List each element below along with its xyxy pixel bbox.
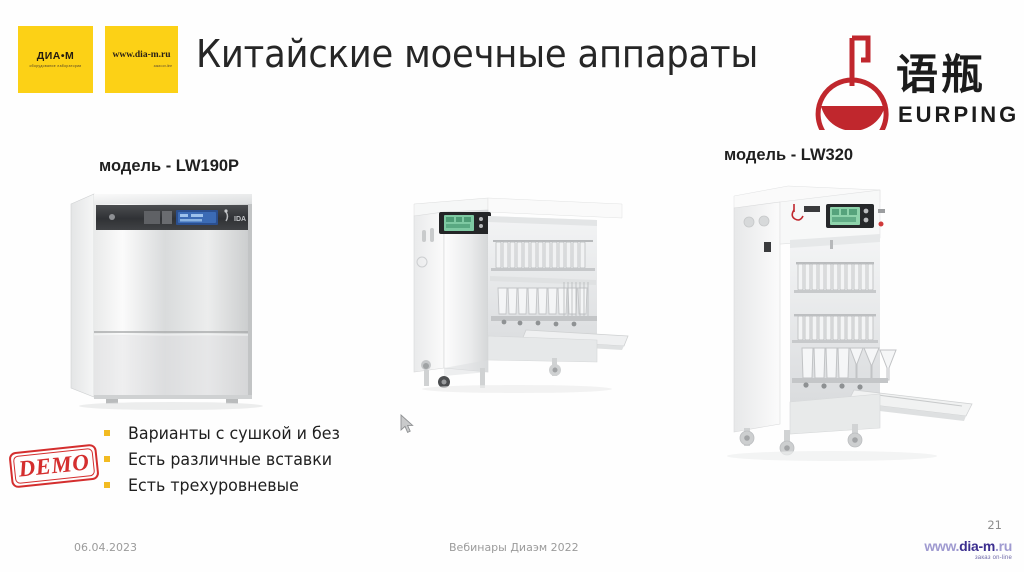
dia-m-url-logo-subtitle: заказ on-line	[154, 64, 172, 68]
model-caption-lw190p: модель - LW190P	[99, 157, 239, 176]
svg-text:IDA: IDA	[234, 216, 246, 223]
bullet-square-icon	[104, 482, 110, 488]
eurping-brand-logo: 语瓶 EURPING	[812, 28, 1008, 130]
list-item-label: Есть различные вставки	[128, 450, 332, 469]
footer-subtitle: Вебинары Диаэм 2022	[449, 541, 579, 554]
bullet-square-icon	[104, 456, 110, 462]
list-item-label: Варианты с сушкой и без	[128, 424, 340, 443]
page-number: 21	[987, 518, 1002, 532]
footer-logo-tagline: заказ on-line	[924, 555, 1012, 561]
product-image-lw190p: IDA	[66, 182, 286, 412]
footer-date: 06.04.2023	[74, 541, 137, 554]
brand-cjk-text: 语瓶	[896, 54, 986, 96]
list-item: Есть трехуровневые	[104, 476, 404, 495]
footer-url-www: www.	[924, 538, 959, 554]
dia-m-url-logo: www.dia-m.ru заказ on-line	[105, 26, 178, 93]
brand-latin-text: EURPING	[898, 104, 1019, 126]
demo-stamp: DEMO	[8, 443, 99, 488]
footer-url-brand: dia-m	[959, 538, 995, 554]
model-caption-lw320: модель - LW320	[724, 146, 853, 165]
bullet-square-icon	[104, 430, 110, 436]
diam-logo: ДИА•М оборудование лаборатории	[18, 26, 93, 93]
diam-logo-word: ДИА•М	[37, 51, 75, 62]
list-item: Варианты с сушкой и без	[104, 424, 404, 443]
list-item-label: Есть трехуровневые	[128, 476, 299, 495]
page-title: Китайские моечные аппараты	[196, 32, 763, 76]
slide-canvas: ДИА•М оборудование лаборатории www.dia-m…	[0, 0, 1024, 572]
product-image-two-level-washer	[392, 190, 642, 395]
feature-list: Варианты с сушкой и без Есть различные в…	[104, 424, 404, 502]
list-item: Есть различные вставки	[104, 450, 404, 469]
flask-icon	[812, 30, 896, 130]
footer-dia-m-url: www.dia-m.ru	[924, 539, 1012, 553]
footer-url-tld: .ru	[995, 538, 1012, 554]
product-image-lw320	[702, 176, 992, 466]
footer-dia-m-logo[interactable]: www.dia-m.ru заказ on-line	[924, 539, 1012, 561]
demo-stamp-label: DEMO	[8, 443, 99, 488]
dia-m-url-logo-word: www.dia-m.ru	[112, 51, 170, 61]
mouse-cursor-icon	[400, 414, 416, 436]
diam-logo-subtitle: оборудование лаборатории	[29, 64, 81, 68]
